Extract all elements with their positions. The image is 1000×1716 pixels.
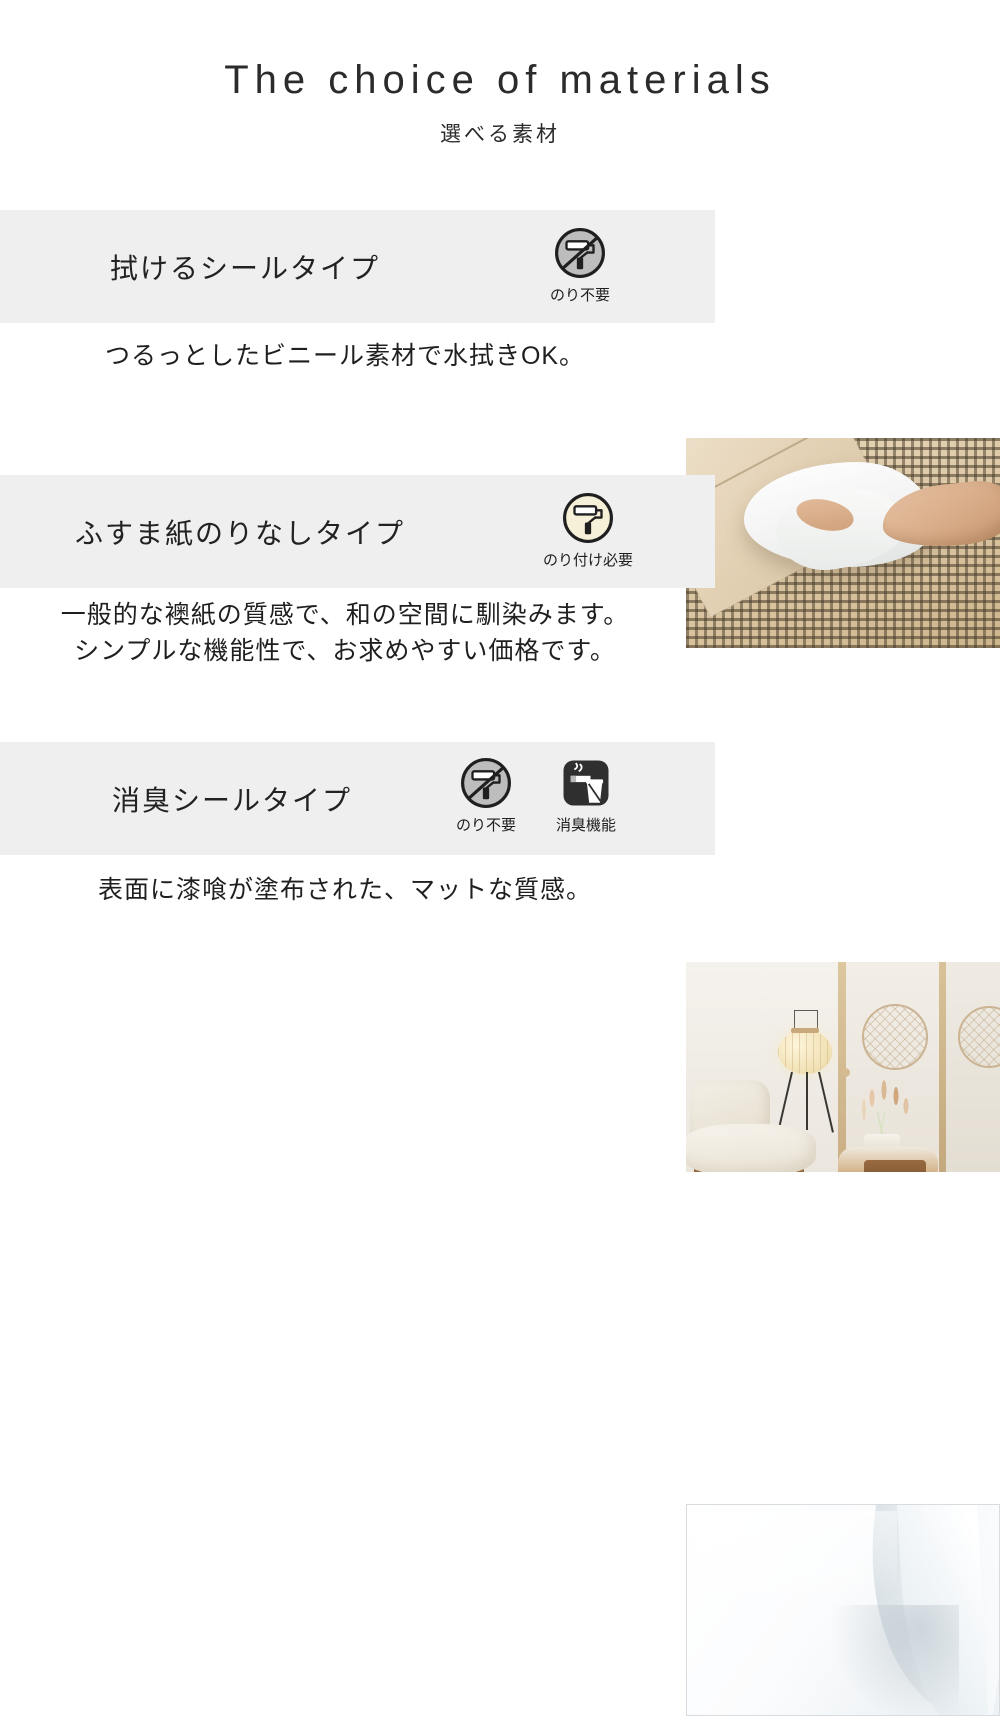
page-title-english: The choice of materials — [0, 58, 1000, 102]
paper-shadow — [829, 1605, 959, 1716]
hand-wiping-rattan-surface-photo — [686, 438, 1000, 648]
section-title: 拭けるシールタイプ — [110, 247, 380, 287]
badge-no-glue: のり不要 — [537, 226, 623, 305]
section-description: 一般的な襖紙の質感で、和の空間に馴染みます。 シンプルな機能性で、お求めやすい価… — [0, 597, 690, 670]
section-description: 表面に漆喰が塗布された、マットな質感。 — [0, 872, 690, 908]
section-title: ふすま紙のりなしタイプ — [75, 512, 405, 552]
paper-highlight — [697, 1511, 897, 1591]
japanese-room-fusuma-interior-photo — [686, 962, 1000, 1172]
white-curled-paper-sheet-photo — [686, 1504, 1000, 1716]
description-line: つるっとしたビニール素材で水拭きOK。 — [0, 338, 690, 374]
section-title: 消臭シールタイプ — [112, 779, 352, 819]
tripod-leg — [806, 1072, 808, 1130]
description-line: 表面に漆喰が塗布された、マットな質感。 — [0, 872, 690, 908]
circular-lattice-motif — [862, 1004, 928, 1070]
section-description: つるっとしたビニール素材で水拭きOK。 — [0, 338, 690, 374]
section-badges: のり付け必要 — [545, 491, 631, 570]
no-glue-roller-icon — [459, 756, 513, 810]
description-line: シンプルな機能性で、お求めやすい価格です。 — [0, 633, 690, 669]
badge-glue-required: のり付け必要 — [545, 491, 631, 570]
badge-no-glue: のり不要 — [443, 756, 529, 835]
badge-label: のり不要 — [456, 814, 516, 835]
glue-required-roller-icon — [561, 491, 615, 545]
fusuma-frame — [838, 962, 846, 1172]
page-header: The choice of materials 選べる素材 — [0, 0, 1000, 148]
section-badges: のり不要 消臭機能 — [443, 756, 629, 835]
door-pull-knob — [841, 1068, 850, 1077]
lantern-cap — [791, 1028, 819, 1033]
materials-choice-page: The choice of materials 選べる素材 拭けるシールタイプ … — [0, 0, 1000, 1000]
lantern-ribs — [778, 1030, 832, 1074]
page-title-japanese: 選べる素材 — [0, 118, 1000, 148]
deodorizing-function-icon — [559, 756, 613, 810]
no-glue-roller-icon — [553, 226, 607, 280]
side-table-base — [864, 1160, 926, 1172]
badge-label: 消臭機能 — [556, 814, 616, 835]
description-line: 一般的な襖紙の質感で、和の空間に馴染みます。 — [0, 597, 690, 633]
badge-deodorizing: 消臭機能 — [543, 756, 629, 835]
badge-label: のり不要 — [550, 284, 610, 305]
section-badges: のり不要 — [537, 226, 623, 305]
fusuma-frame — [939, 962, 946, 1172]
armchair-seat — [686, 1124, 816, 1172]
badge-label: のり付け必要 — [543, 549, 633, 570]
